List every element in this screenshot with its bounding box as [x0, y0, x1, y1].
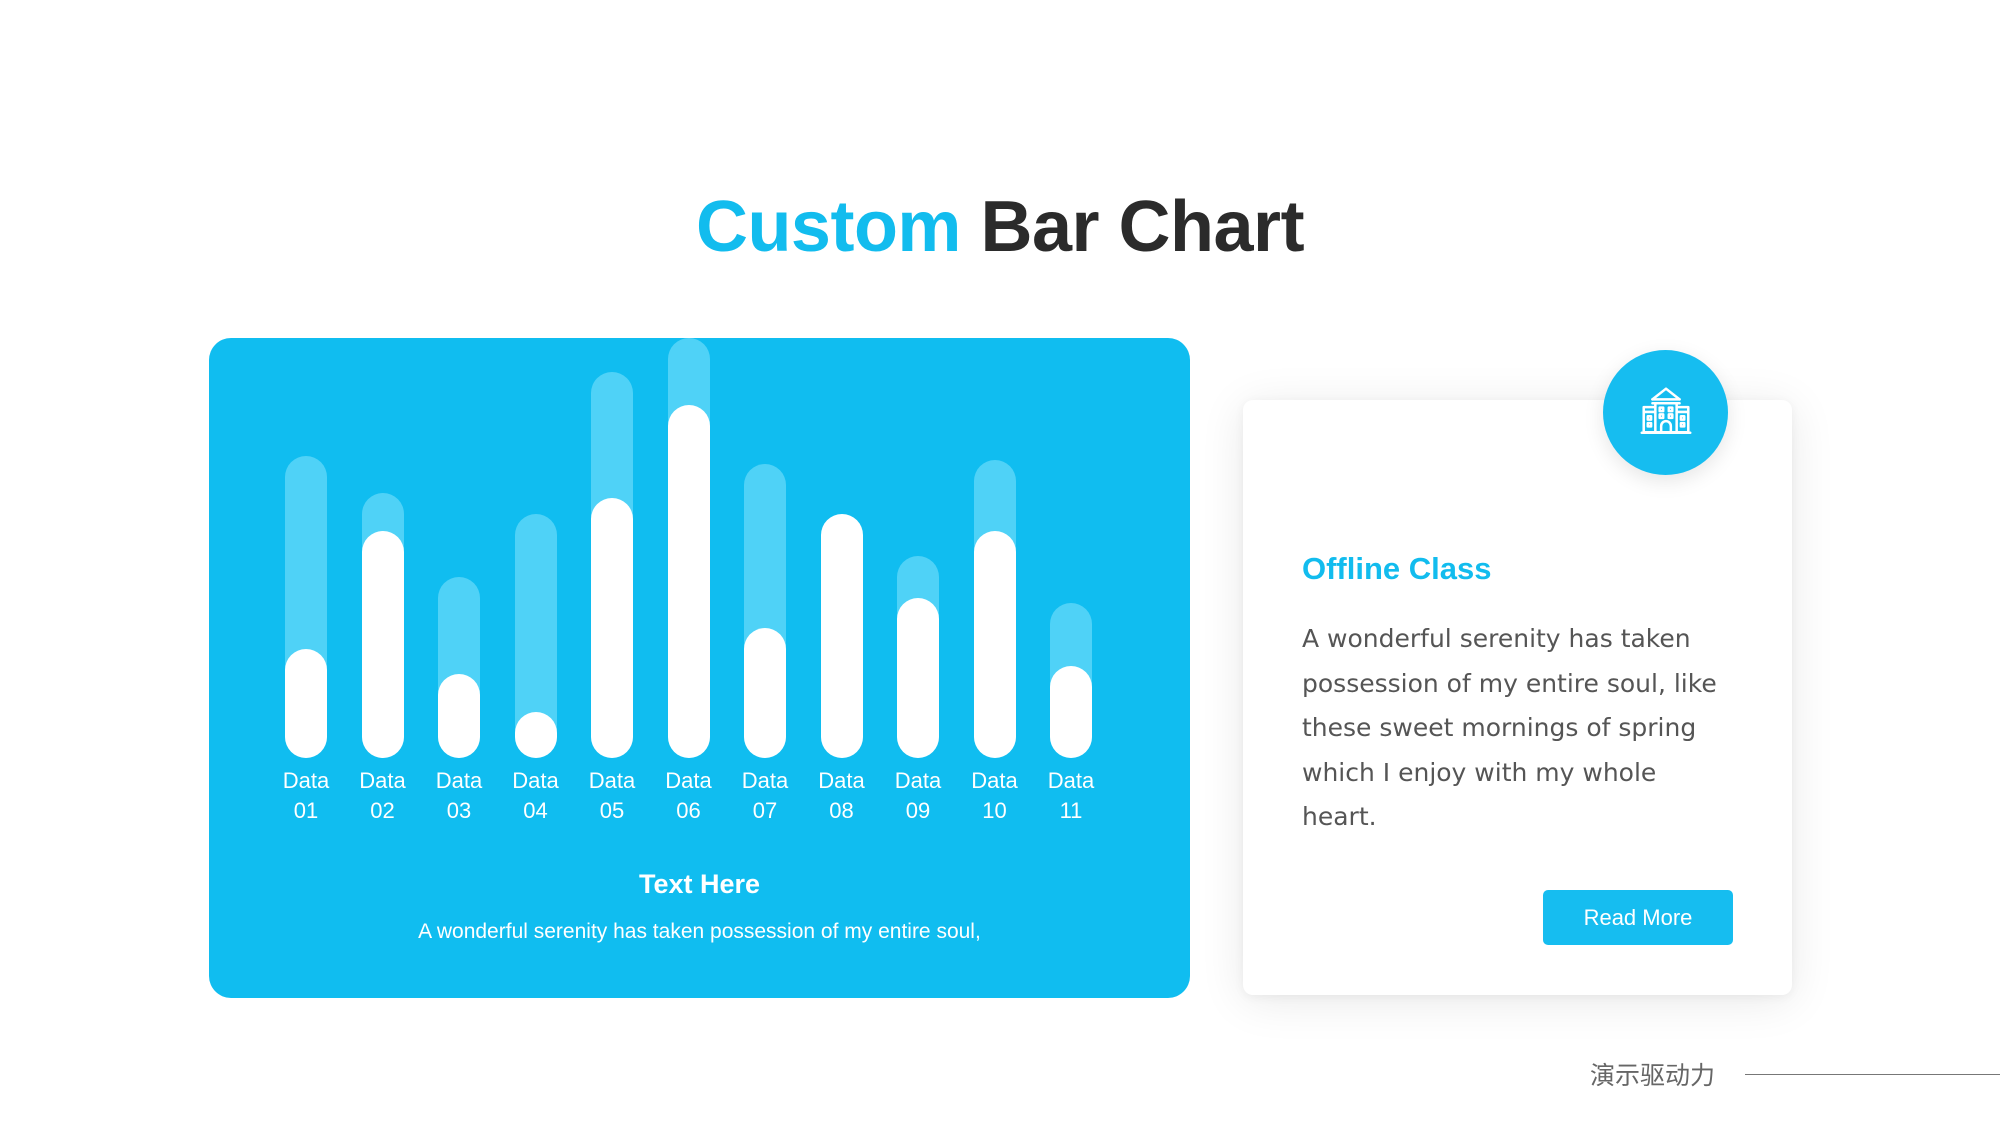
bar-chart-card: Data01Data02Data03Data04Data05Data06Data…: [209, 338, 1190, 998]
bar-chart-plot: [209, 338, 1190, 758]
bar-chart-category-axis: Data01Data02Data03Data04Data05Data06Data…: [209, 766, 1190, 842]
bar-fill: [438, 674, 480, 758]
school-building-icon-badge[interactable]: [1603, 350, 1728, 475]
bar-fill: [821, 514, 863, 758]
watermark-text: 演示驱动力: [1590, 1056, 1715, 1092]
bar-fill: [744, 628, 786, 758]
chart-footer-description: A wonderful serenity has taken possessio…: [209, 918, 1190, 945]
page-title: Custom Bar Chart: [0, 188, 2000, 267]
bar-fill: [591, 498, 633, 758]
offline-class-title: Offline Class: [1302, 550, 1732, 587]
bar-fill: [362, 531, 404, 758]
watermark: 演示驱动力: [1590, 1056, 2000, 1092]
bar-fill: [1050, 666, 1092, 758]
offline-class-body: A wonderful serenity has taken possessio…: [1302, 617, 1732, 840]
bar-fill: [974, 531, 1016, 758]
offline-class-card-content: Offline Class A wonderful serenity has t…: [1302, 550, 1732, 840]
category-label: Data11: [1023, 766, 1119, 826]
bar-fill: [668, 405, 710, 758]
read-more-button[interactable]: Read More: [1543, 890, 1733, 945]
watermark-rule: [1745, 1074, 2000, 1075]
page-title-dark: Bar Chart: [980, 187, 1304, 267]
school-building-icon: [1635, 379, 1697, 446]
category-label-line: 11: [1023, 796, 1119, 826]
bar-fill: [285, 649, 327, 758]
chart-card-footer: Text Here A wonderful serenity has taken…: [209, 868, 1190, 946]
page-title-accent: Custom: [696, 187, 961, 267]
category-label-line: Data: [1023, 766, 1119, 796]
bar-fill: [515, 712, 557, 758]
bar-fill: [897, 598, 939, 758]
chart-footer-title: Text Here: [209, 868, 1190, 900]
